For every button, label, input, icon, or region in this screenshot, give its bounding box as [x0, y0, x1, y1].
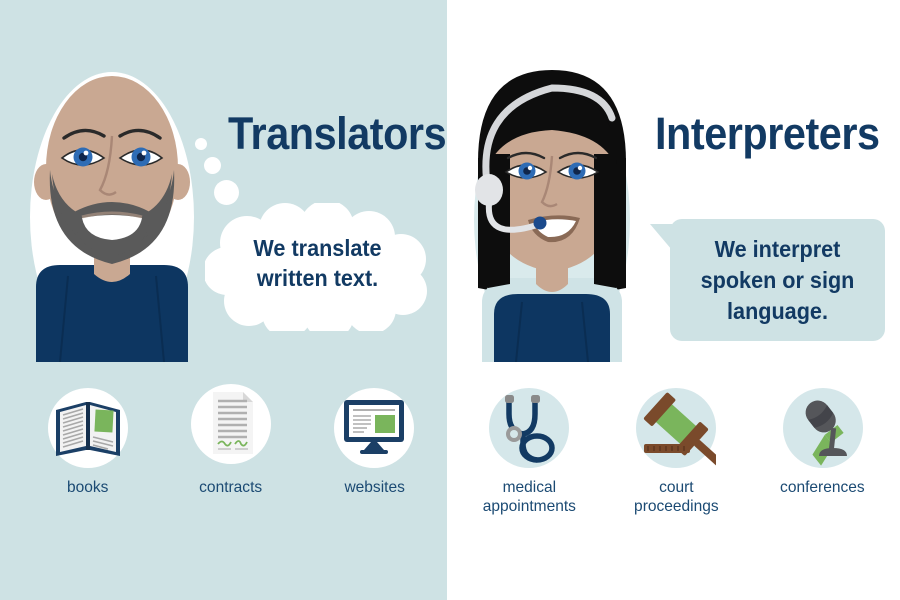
quote-line-3: language. — [676, 296, 878, 327]
thought-cloud-bubble: We translate written text. — [205, 203, 430, 331]
translators-icon-row: books contr — [16, 388, 446, 501]
icon-item-conferences[interactable]: conferences — [749, 388, 896, 516]
icon-label-conferences: conferences — [752, 478, 894, 497]
icon-label-medical-line2: appointments — [458, 497, 600, 516]
icon-label-websites: websites — [305, 478, 444, 497]
icon-item-court-proceedings[interactable]: court proceedings — [603, 388, 750, 516]
quote-line-1: We interpret — [676, 234, 878, 265]
page-title-interpreters: Interpreters — [655, 111, 880, 156]
quote-line-2: spoken or sign — [676, 265, 878, 296]
speech-bubble-tail — [650, 224, 672, 250]
interpreters-quote: We interpret spoken or sign language. — [676, 234, 878, 327]
thought-dot-large — [214, 180, 239, 205]
page-title-translators: Translators — [228, 111, 446, 156]
quote-line-2: written text. — [212, 263, 424, 293]
icon-label-court-line1: court — [605, 478, 747, 497]
icon-item-books[interactable]: books — [16, 388, 159, 501]
icon-label-medical-line1: medical — [458, 478, 600, 497]
icon-label-books: books — [18, 478, 157, 497]
translators-quote: We translate written text. — [212, 233, 424, 293]
thought-dot-medium — [204, 157, 221, 174]
quote-line-1: We translate — [212, 233, 424, 263]
bearded-bald-man-avatar — [12, 62, 212, 362]
thought-dot-small — [195, 138, 207, 150]
icon-label-court-line2: proceedings — [605, 497, 747, 516]
interpreters-icon-row: medical appointments — [456, 388, 896, 516]
infographic-canvas: We translate written text. Translators — [0, 0, 900, 600]
icon-label-contracts: contracts — [161, 478, 300, 497]
icon-item-medical-appointments[interactable]: medical appointments — [456, 388, 603, 516]
icon-item-websites[interactable]: websites — [303, 388, 446, 501]
speech-bubble: We interpret spoken or sign language. — [670, 219, 885, 341]
icon-item-contracts[interactable]: contracts — [159, 384, 302, 497]
woman-with-headset-avatar — [452, 62, 652, 362]
